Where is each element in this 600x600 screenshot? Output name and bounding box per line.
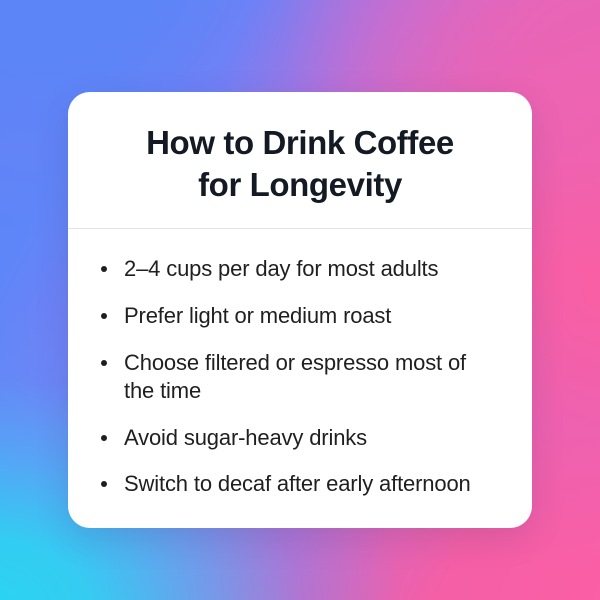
page-title: How to Drink Coffee for Longevity — [102, 122, 498, 206]
poster-canvas: How to Drink Coffee for Longevity 2–4 cu… — [0, 0, 600, 600]
page-title-line-1: How to Drink Coffee — [102, 122, 498, 164]
bullet-dot-icon — [101, 360, 107, 366]
list-item: Choose filtered or espresso most of the … — [98, 349, 502, 406]
card-body: 2–4 cups per day for most adults Prefer … — [68, 229, 532, 528]
bullet-dot-icon — [101, 481, 107, 487]
list-item-label: Choose filtered or espresso most of the … — [124, 349, 502, 406]
bullet-dot-icon — [101, 266, 107, 272]
page-title-line-2: for Longevity — [102, 164, 498, 206]
list-item: 2–4 cups per day for most adults — [98, 255, 502, 284]
bullet-dot-icon — [101, 313, 107, 319]
card-header: How to Drink Coffee for Longevity — [68, 92, 532, 228]
list-item-label: Switch to decaf after early afternoon — [124, 470, 502, 499]
bullet-dot-icon — [101, 435, 107, 441]
list-item: Avoid sugar-heavy drinks — [98, 424, 502, 453]
list-item: Switch to decaf after early afternoon — [98, 470, 502, 499]
list-item-label: 2–4 cups per day for most adults — [124, 255, 502, 284]
info-card: How to Drink Coffee for Longevity 2–4 cu… — [68, 92, 532, 528]
list-item-label: Avoid sugar-heavy drinks — [124, 424, 502, 453]
list-item: Prefer light or medium roast — [98, 302, 502, 331]
list-item-label: Prefer light or medium roast — [124, 302, 502, 331]
tips-list: 2–4 cups per day for most adults Prefer … — [98, 255, 502, 499]
